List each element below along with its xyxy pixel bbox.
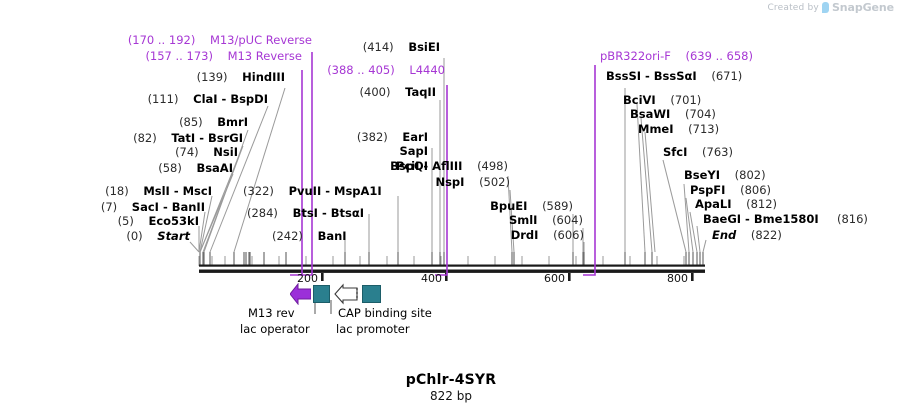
- site-position: (802): [735, 168, 766, 182]
- site-enzymes: PspFI: [690, 183, 725, 197]
- plasmid-backbone: [199, 265, 705, 273]
- feature-arrow-left-icon: [290, 283, 311, 305]
- site-position: (414): [363, 40, 394, 54]
- site-position: (713): [688, 122, 719, 136]
- site-position: (816): [837, 212, 868, 226]
- site-label-end[interactable]: End (822): [712, 229, 782, 242]
- feature-label-lac-promoter[interactable]: lac promoter: [336, 322, 410, 336]
- site-enzymes: BciVI: [623, 93, 656, 107]
- feature-lac-promoter[interactable]: [334, 283, 358, 305]
- site-enzymes: PvuII - MspA1I: [289, 184, 382, 198]
- primer-name: M13 Reverse: [228, 49, 302, 63]
- site-label-saci-banii[interactable]: (7) SacI - BanII: [0, 201, 210, 214]
- site-enzymes: PciI - AflIII: [396, 159, 463, 173]
- site-label-bseyi[interactable]: BseYI (802): [684, 169, 766, 182]
- primer-label-pbr322ori-f[interactable]: pBR322ori-F (639 .. 658): [600, 50, 753, 63]
- feature-label-m13-rev[interactable]: M13 rev: [248, 306, 295, 320]
- site-enzymes: TaqII: [405, 85, 436, 99]
- site-label-sfci[interactable]: SfcI (763): [663, 146, 733, 159]
- watermark-brand: SnapGene: [832, 1, 894, 14]
- site-position: (18): [105, 184, 129, 198]
- snapgene-logo-icon: [822, 2, 829, 13]
- site-label-btsi-btsai[interactable]: (284) BtsI - BtsαI: [247, 207, 364, 220]
- site-terminal-start: Start: [157, 229, 190, 243]
- site-position: (0): [126, 229, 142, 243]
- site-label-taqii[interactable]: (400) TaqII: [300, 86, 441, 99]
- site-label-bsssi-bsssai[interactable]: BssSI - BssSαI (671): [606, 70, 742, 83]
- site-enzymes: EarI: [402, 130, 428, 144]
- site-label-start[interactable]: (0) Start: [0, 230, 195, 243]
- site-position: (822): [751, 228, 782, 242]
- site-label-pvuii-mspa1i[interactable]: (322) PvuII - MspA1I: [243, 185, 382, 198]
- site-label-bsawi[interactable]: BsaWI (704): [630, 108, 716, 121]
- ruler-major-ticks: [321, 273, 694, 281]
- site-position: (82): [133, 131, 157, 145]
- site-label-tati-bsrgi[interactable]: (82) TatI - BsrGI: [0, 132, 248, 145]
- site-position: (242): [272, 229, 303, 243]
- site-label-bani[interactable]: (242) BanI: [272, 230, 347, 243]
- site-enzymes: BssSI - BssSαI: [606, 69, 697, 83]
- site-enzymes: DrdI: [511, 228, 539, 242]
- site-enzymes: NspI: [435, 175, 464, 189]
- plasmid-size-label: 822 bp: [0, 389, 902, 403]
- site-enzymes: ApaLI: [695, 197, 732, 211]
- site-enzymes: BsaAI: [196, 161, 233, 175]
- site-label-bcivi[interactable]: BciVI (701): [623, 94, 701, 107]
- plasmid-map-canvas: Created by SnapGene: [0, 0, 902, 411]
- site-position: (812): [746, 197, 777, 211]
- site-enzymes: BmrI: [217, 115, 248, 129]
- site-position: (322): [243, 184, 274, 198]
- page-title: pChlr-4SYR: [0, 372, 902, 388]
- site-position: (606): [553, 228, 584, 242]
- site-enzymes: BpuEI: [490, 199, 527, 213]
- site-position: (498): [477, 159, 508, 173]
- site-position: (502): [479, 175, 510, 189]
- site-enzymes: ClaI - BspDI: [193, 92, 268, 106]
- primer-label-m13-reverse[interactable]: (157 .. 173) M13 Reverse: [0, 50, 306, 63]
- site-label-bmri[interactable]: (85) BmrI: [0, 116, 253, 129]
- site-position: (74): [175, 145, 199, 159]
- site-position: (85): [179, 115, 203, 129]
- site-position: (284): [247, 206, 278, 220]
- site-position: (763): [702, 145, 733, 159]
- site-enzymes: BsiEI: [408, 40, 440, 54]
- site-position: (671): [711, 69, 742, 83]
- primer-range: (388 .. 405): [327, 63, 395, 77]
- ruler-minor-ticks: [199, 256, 684, 266]
- site-enzymes: SfcI: [663, 145, 687, 159]
- feature-cap-binding-site[interactable]: [362, 285, 381, 303]
- site-label-hindiii[interactable]: (139) HindIII: [0, 71, 290, 84]
- site-label-nsii[interactable]: (74) NsiI: [0, 146, 243, 159]
- site-label-bsiei[interactable]: (414) BsiEI: [300, 41, 445, 54]
- site-position: (604): [552, 213, 583, 227]
- site-position: (704): [685, 107, 716, 121]
- site-label-drdi[interactable]: DrdI (606): [450, 229, 589, 242]
- site-terminal-end: End: [712, 228, 736, 242]
- primer-name: pBR322ori-F: [600, 49, 671, 63]
- site-enzymes: Eco53kI: [148, 214, 199, 228]
- site-label-pcii-afliii[interactable]: PciI - AflIII (498): [380, 160, 513, 173]
- primer-name: M13/pUC Reverse: [210, 33, 312, 47]
- primer-range: (157 .. 173): [145, 49, 213, 63]
- site-label-pspfi[interactable]: PspFI (806): [690, 184, 771, 197]
- site-label-bpuei[interactable]: BpuEI (589): [450, 200, 578, 213]
- snapgene-watermark: Created by SnapGene: [767, 1, 894, 14]
- site-enzymes: SacI - BanII: [132, 200, 205, 214]
- site-enzymes: SmlI: [509, 213, 538, 227]
- site-label-mmei[interactable]: MmeI (713): [638, 123, 719, 136]
- site-label-eco53ki[interactable]: (5) Eco53kI: [0, 215, 204, 228]
- site-label-baegi-bme1580i[interactable]: BaeGI - Bme1580I (816): [703, 213, 868, 226]
- site-position: (7): [101, 200, 117, 214]
- leader-lines-mid: [345, 196, 398, 252]
- feature-arrow-left-open-icon: [334, 283, 358, 305]
- site-label-sapi[interactable]: SapI: [300, 145, 433, 158]
- site-enzymes: BsaWI: [630, 107, 670, 121]
- site-enzymes: MmeI: [638, 122, 674, 136]
- feature-label-lac-operator[interactable]: lac operator: [240, 322, 310, 336]
- site-position: (382): [357, 130, 388, 144]
- site-label-apali[interactable]: ApaLI (812): [695, 198, 777, 211]
- site-label-eari[interactable]: (382) EarI: [300, 131, 433, 144]
- ruler-tick-800: 800: [667, 272, 688, 285]
- feature-label-cap-binding-site[interactable]: CAP binding site: [338, 306, 432, 320]
- site-enzymes: HindIII: [242, 70, 285, 84]
- site-enzymes: NsiI: [213, 145, 238, 159]
- site-enzymes: BaeGI - Bme1580I: [703, 212, 819, 226]
- site-label-smli[interactable]: SmlI (604): [450, 214, 588, 227]
- site-enzymes: MslI - MscI: [143, 184, 212, 198]
- primer-label-m13-puc-reverse[interactable]: (170 .. 192) M13/pUC Reverse: [0, 34, 316, 47]
- site-enzymes: BseYI: [684, 168, 720, 182]
- ruler-tick-400: 400: [421, 272, 442, 285]
- primer-range: (170 .. 192): [128, 33, 196, 47]
- primer-range: (639 .. 658): [685, 49, 753, 63]
- watermark-prefix: Created by: [767, 3, 819, 13]
- ruler-tick-600: 600: [544, 272, 565, 285]
- site-position: (400): [360, 85, 391, 99]
- site-position: (806): [740, 183, 771, 197]
- site-enzymes: BtsI - BtsαI: [293, 206, 364, 220]
- site-position: (111): [148, 92, 179, 106]
- site-enzymes: BanI: [318, 229, 347, 243]
- primer-name: L4440: [409, 63, 445, 77]
- feature-m13-rev[interactable]: [290, 283, 311, 305]
- site-position: (589): [542, 199, 573, 213]
- site-position: (58): [158, 161, 182, 175]
- site-enzymes: TatI - BsrGI: [171, 131, 243, 145]
- site-label-nspi[interactable]: NspI (502): [380, 176, 515, 189]
- site-label-bsaai[interactable]: (58) BsaAI: [0, 162, 238, 175]
- site-position: (701): [670, 93, 701, 107]
- site-label-clai-bspdi[interactable]: (111) ClaI - BspDI: [0, 93, 273, 106]
- enzyme-cut-ticks: [200, 252, 703, 266]
- site-enzymes: SapI: [399, 144, 428, 158]
- site-label-msli-msci[interactable]: (18) MslI - MscI: [0, 185, 217, 198]
- site-position: (139): [197, 70, 228, 84]
- feature-lac-operator[interactable]: [313, 285, 330, 303]
- site-position: (5): [118, 214, 134, 228]
